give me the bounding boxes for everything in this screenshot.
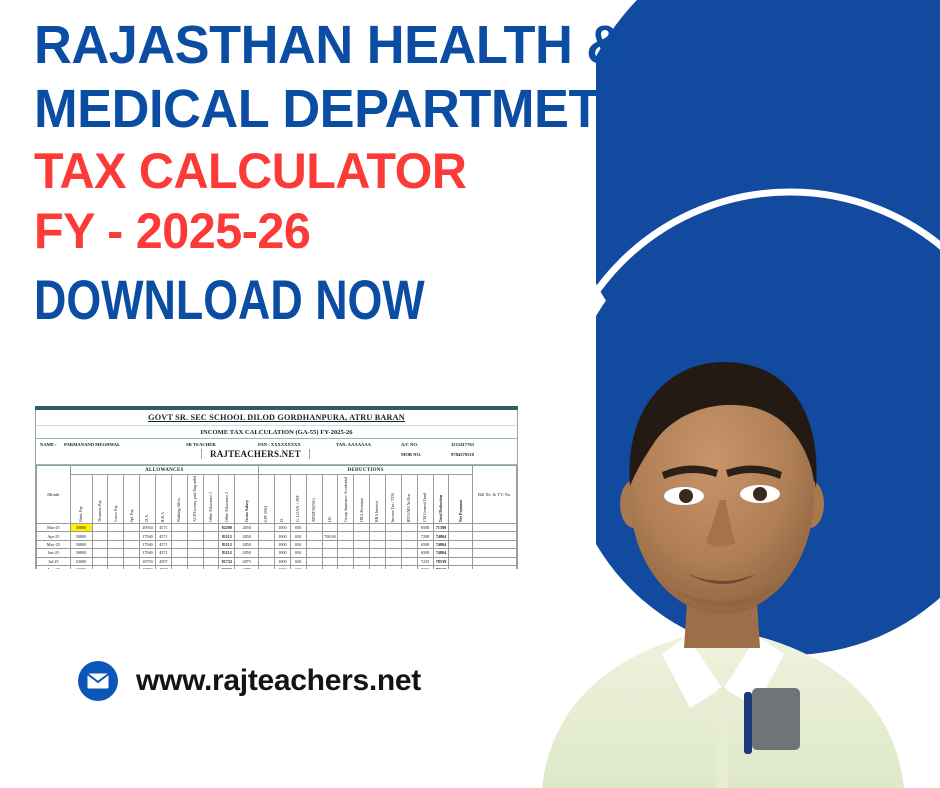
cell	[401, 532, 417, 540]
table-body: Mar-255080020934457182290285010006506508…	[37, 524, 517, 570]
cell	[108, 532, 124, 540]
cell	[108, 540, 124, 548]
table-row[interactable]: Apr-25508001794045718111228501000650700.…	[37, 532, 517, 540]
cell	[171, 532, 187, 540]
cell: 2850	[235, 532, 259, 540]
cell	[203, 557, 219, 565]
cell	[92, 557, 108, 565]
cell: 78539	[433, 557, 449, 565]
cell	[92, 524, 108, 532]
cell	[473, 524, 517, 532]
cell	[187, 565, 203, 569]
cell: 4571	[155, 532, 171, 540]
col-g-loan-int: G. LOAN + INT	[290, 475, 306, 524]
cell: 650	[290, 524, 306, 532]
cell	[370, 557, 386, 565]
cell: Apr-25	[37, 532, 71, 540]
cell	[473, 540, 517, 548]
cell	[203, 540, 219, 548]
cell: 50800	[70, 549, 92, 557]
col-month: Month	[37, 466, 71, 524]
cell	[449, 549, 473, 557]
cell: 17940	[140, 540, 156, 548]
cell: Jun-25	[37, 549, 71, 557]
cell	[338, 540, 354, 548]
cell	[449, 540, 473, 548]
col-dearness-pay: Dearness Pay	[92, 475, 108, 524]
cell: 4597	[155, 565, 171, 569]
cell	[259, 549, 275, 557]
cell	[322, 549, 338, 557]
meta-pan: PAN : XXXXXXXXX	[258, 442, 301, 447]
col-total-deduction: Total Deduction	[433, 475, 449, 524]
cell: 81112	[219, 549, 235, 557]
cell	[92, 565, 108, 569]
cell: 1000	[274, 557, 290, 565]
cell: 4571	[155, 540, 171, 548]
cell	[354, 524, 370, 532]
cell	[306, 557, 322, 565]
group-header-allowances: ALLOWANCES	[70, 466, 258, 475]
col-lic: LIC	[322, 475, 338, 524]
cell: 1000	[274, 565, 290, 569]
meta-mob-value: 9784379510	[451, 452, 474, 457]
cell	[306, 540, 322, 548]
cell	[449, 532, 473, 540]
cell	[259, 540, 275, 548]
col-bill-no: Bill No. & T.V. No.	[473, 466, 517, 524]
col-cm-general-fund: CM General Fund	[417, 475, 433, 524]
cell	[322, 565, 338, 569]
col-label: Net Payment	[459, 499, 463, 522]
col-label: GPF 2004	[264, 505, 268, 522]
cell	[354, 540, 370, 548]
col-label: Basic Pay	[79, 505, 83, 522]
cell: 20934	[140, 524, 156, 532]
cell: 650	[290, 565, 306, 569]
cell: 81732	[219, 565, 235, 569]
col-label: HITA/MS NcDcn	[407, 493, 411, 522]
col-label: Total Deduction	[439, 494, 443, 522]
col-spl-pay: Spl. Pay	[124, 475, 140, 524]
cell: 650	[290, 532, 306, 540]
cell: 17940	[140, 549, 156, 557]
table-group-header-row: Month ALLOWANCES DEDUCTIONS Bill No. & T…	[37, 466, 517, 475]
cell	[108, 524, 124, 532]
cell	[473, 557, 517, 565]
cell	[354, 557, 370, 565]
cell	[124, 540, 140, 548]
col-label: D.A.	[145, 513, 149, 522]
col-hita-ms-ncdcn: HITA/MS NcDcn	[401, 475, 417, 524]
col-d-a: D.A.	[140, 475, 156, 524]
col-other-allowance-1: Other Allowance 1	[203, 475, 219, 524]
salary-table[interactable]: Month ALLOWANCES DEDUCTIONS Bill No. & T…	[36, 465, 517, 569]
cell: 81112	[219, 532, 235, 540]
cell: 2850	[235, 524, 259, 532]
cell	[171, 524, 187, 532]
cell	[124, 532, 140, 540]
cell: 2875	[235, 557, 259, 565]
col-label: Dearness Pay	[98, 499, 102, 522]
group-header-deductions: DEDUCTIONS	[259, 466, 473, 475]
cell	[187, 524, 203, 532]
pocket-pen	[744, 692, 752, 754]
col-label: CM General Fund	[423, 492, 427, 522]
cell	[401, 557, 417, 565]
cell	[449, 557, 473, 565]
cell	[354, 532, 370, 540]
cell	[124, 557, 140, 565]
cell	[338, 532, 354, 540]
col-label: Gross Salary	[245, 499, 249, 522]
cell: 4571	[155, 524, 171, 532]
col-label: H.R.A.	[161, 510, 165, 522]
col-h-r-a: H.R.A.	[155, 475, 171, 524]
cell: Mar-25	[37, 524, 71, 532]
cell	[338, 524, 354, 532]
cell	[338, 549, 354, 557]
cell: 78539	[433, 565, 449, 569]
cell	[385, 532, 401, 540]
meta-designation: SR TEACHER	[186, 442, 216, 447]
cell	[385, 549, 401, 557]
cell: 50800	[70, 532, 92, 540]
col-group-insurance-accidental: Group Insurance Accidental	[338, 475, 354, 524]
cell	[92, 540, 108, 548]
cell	[108, 565, 124, 569]
cell	[306, 532, 322, 540]
cell	[322, 557, 338, 565]
cell	[401, 540, 417, 548]
cell: 74804	[433, 549, 449, 557]
cell	[124, 524, 140, 532]
cell	[449, 565, 473, 569]
cell: 18793	[140, 565, 156, 569]
cell: 650	[290, 540, 306, 548]
cell	[385, 565, 401, 569]
cell: 4597	[155, 557, 171, 565]
shirt-placket	[716, 688, 728, 788]
cell	[203, 565, 219, 569]
cell	[203, 524, 219, 532]
portrait-photo	[512, 336, 932, 788]
cell: 74804	[433, 540, 449, 548]
col-label: Leave Pay	[114, 504, 118, 522]
cell	[187, 540, 203, 548]
meta-mob-label: MOB NO.	[401, 452, 421, 457]
table-column-header-row: Basic PayDearness PayLeave PaySpl. PayD.…	[37, 475, 517, 524]
cell: 50800	[70, 540, 92, 548]
cell: 2875	[235, 565, 259, 569]
cell: 2850	[235, 540, 259, 548]
pocket-phone	[752, 688, 800, 750]
cell	[401, 565, 417, 569]
cell: 7233	[417, 557, 433, 565]
cell	[203, 532, 219, 540]
cell: 700.00	[322, 532, 338, 540]
cell: 2850	[235, 549, 259, 557]
cell	[259, 557, 275, 565]
envelope-icon	[78, 661, 118, 701]
cell: 6508	[417, 540, 433, 548]
spreadsheet-preview[interactable]: GOVT SR. SEC SCHOOL DILOD GORDHANPURA, A…	[35, 406, 518, 569]
cell	[306, 549, 322, 557]
cell: May-25	[37, 540, 71, 548]
col-acp-gr-seny-pust-eng-mtbd-sr-mrfruti: ACP/Gr.seny, pust Eng mtbd sr. mrfruti	[187, 475, 203, 524]
cell	[338, 557, 354, 565]
headline-block: RAJASTHAN HEALTH & MEDICAL DEPARTMET TAX…	[34, 18, 714, 328]
cell: 1000	[274, 524, 290, 532]
cell	[124, 549, 140, 557]
cell: 6508	[417, 549, 433, 557]
col-hba-interest: HBA Interest	[370, 475, 386, 524]
meta-ac-label: A/C NO.	[401, 442, 418, 447]
col-other-allowance-2: Other Allowance 2	[219, 475, 235, 524]
website-footer[interactable]: www.rajteachers.net	[78, 661, 421, 701]
col-label: RPMF/SI(NG)	[312, 497, 316, 522]
cell	[92, 549, 108, 557]
sheet-school-title: GOVT SR. SEC SCHOOL DILOD GORDHANPURA, A…	[36, 410, 517, 426]
cell: 7208	[417, 532, 433, 540]
col-label: ACP/Gr.seny, pust Eng mtbd sr. mrfruti	[193, 476, 197, 522]
cell: 650	[290, 557, 306, 565]
table-row[interactable]: Aug-255200018793459781732287510006507233…	[37, 565, 517, 569]
cell	[306, 524, 322, 532]
cell	[354, 549, 370, 557]
cell: 6508	[417, 524, 433, 532]
cell	[322, 540, 338, 548]
cell: 18793	[140, 557, 156, 565]
meta-ac-value: 3215417763	[451, 442, 474, 447]
cell	[306, 565, 322, 569]
cell: 1000	[274, 540, 290, 548]
cell	[370, 540, 386, 548]
headline-cta-download-now[interactable]: DOWNLOAD NOW	[34, 272, 578, 328]
cell	[473, 565, 517, 569]
pupil-right	[753, 487, 767, 501]
col-gross-salary: Gross Salary	[235, 475, 259, 524]
cell: 52000	[70, 557, 92, 565]
sheet-document-title: INCOME TAX CALCULATION (GA-55) FY-2025-2…	[36, 426, 517, 439]
col-leave-pay: Leave Pay	[108, 475, 124, 524]
col-income-tax-tds: Income Tax / TDS	[385, 475, 401, 524]
sheet-watermark: RAJTEACHERS.NET	[201, 449, 310, 459]
cell: 7233	[417, 565, 433, 569]
cell	[259, 524, 275, 532]
cell	[401, 524, 417, 532]
cell	[385, 557, 401, 565]
col-rpmf-si-ng: RPMF/SI(NG)	[306, 475, 322, 524]
col-label: Income Tax / TDS	[391, 492, 395, 522]
website-url[interactable]: www.rajteachers.net	[136, 664, 421, 698]
cell	[187, 549, 203, 557]
meta-tan: TAN: AAAAAAA	[336, 442, 371, 447]
col-d: D.	[274, 475, 290, 524]
meta-name-label: NAME :	[40, 442, 57, 447]
cell: 81112	[219, 540, 235, 548]
cell	[385, 540, 401, 548]
col-label: D.	[280, 517, 284, 522]
cell	[385, 524, 401, 532]
col-label: HBA Interest	[375, 500, 379, 522]
col-label: Washing Allow.	[177, 496, 181, 522]
cell	[370, 549, 386, 557]
col-hba-premium: HBA Premium	[354, 475, 370, 524]
col-label: Spl. Pay	[130, 508, 134, 522]
col-label: G. LOAN + INT	[296, 494, 300, 522]
cell	[370, 532, 386, 540]
cell	[338, 565, 354, 569]
cell	[259, 565, 275, 569]
cell	[473, 549, 517, 557]
cell: 4571	[155, 549, 171, 557]
sheet-meta-row: NAME : PARMANAND MEGHWAL SR TEACHER PAN …	[36, 439, 517, 465]
cell: 81732	[219, 557, 235, 565]
cell: 1000	[274, 549, 290, 557]
headline-line-3: TAX CALCULATOR	[34, 146, 694, 196]
cell	[171, 565, 187, 569]
col-label: HBA Premium	[360, 497, 364, 522]
cell	[473, 532, 517, 540]
cell	[354, 565, 370, 569]
headline-line-2: MEDICAL DEPARTMET	[34, 82, 694, 136]
cell: Jul-25	[37, 557, 71, 565]
cell	[108, 549, 124, 557]
table-row[interactable]: Jul-255200018793459781732287510006507233…	[37, 557, 517, 565]
cell	[187, 557, 203, 565]
cell	[171, 540, 187, 548]
cell: 50800	[70, 524, 92, 532]
col-label: Group Insurance Accidental	[344, 476, 348, 522]
cell	[171, 549, 187, 557]
cell: 82290	[219, 524, 235, 532]
table-row[interactable]: May-255080017940457181112285010006506508…	[37, 540, 517, 548]
cell	[259, 532, 275, 540]
cell	[203, 549, 219, 557]
col-washing-allow: Washing Allow.	[171, 475, 187, 524]
cell	[124, 565, 140, 569]
cell: 52000	[70, 565, 92, 569]
cell: 1000	[274, 532, 290, 540]
cell	[449, 524, 473, 532]
headline-line-1: RAJASTHAN HEALTH &	[34, 18, 694, 72]
cell	[108, 557, 124, 565]
cell	[92, 532, 108, 540]
cell: 650	[290, 549, 306, 557]
col-label: Other Allowance 1	[209, 491, 213, 522]
cell: 74804	[433, 532, 449, 540]
col-label: LIC	[328, 515, 332, 522]
col-label: Other Allowance 2	[225, 491, 229, 522]
cell	[401, 549, 417, 557]
table-row[interactable]: Mar-255080020934457182290285010006506508…	[37, 524, 517, 532]
col-gpf-2004: GPF 2004	[259, 475, 275, 524]
cell: 17940	[140, 532, 156, 540]
col-basic-pay: Basic Pay	[70, 475, 92, 524]
pupil-left	[679, 489, 693, 503]
cell	[322, 524, 338, 532]
cell	[171, 557, 187, 565]
cell: Aug-25	[37, 565, 71, 569]
headline-line-4: FY - 2025-26	[34, 206, 694, 256]
cell	[370, 524, 386, 532]
col-net-payment: Net Payment	[449, 475, 473, 524]
cell	[370, 565, 386, 569]
cell: 71398	[433, 524, 449, 532]
meta-name-value: PARMANAND MEGHWAL	[64, 442, 120, 447]
table-row[interactable]: Jun-255080017940457181112285010006506508…	[37, 549, 517, 557]
cell	[187, 532, 203, 540]
